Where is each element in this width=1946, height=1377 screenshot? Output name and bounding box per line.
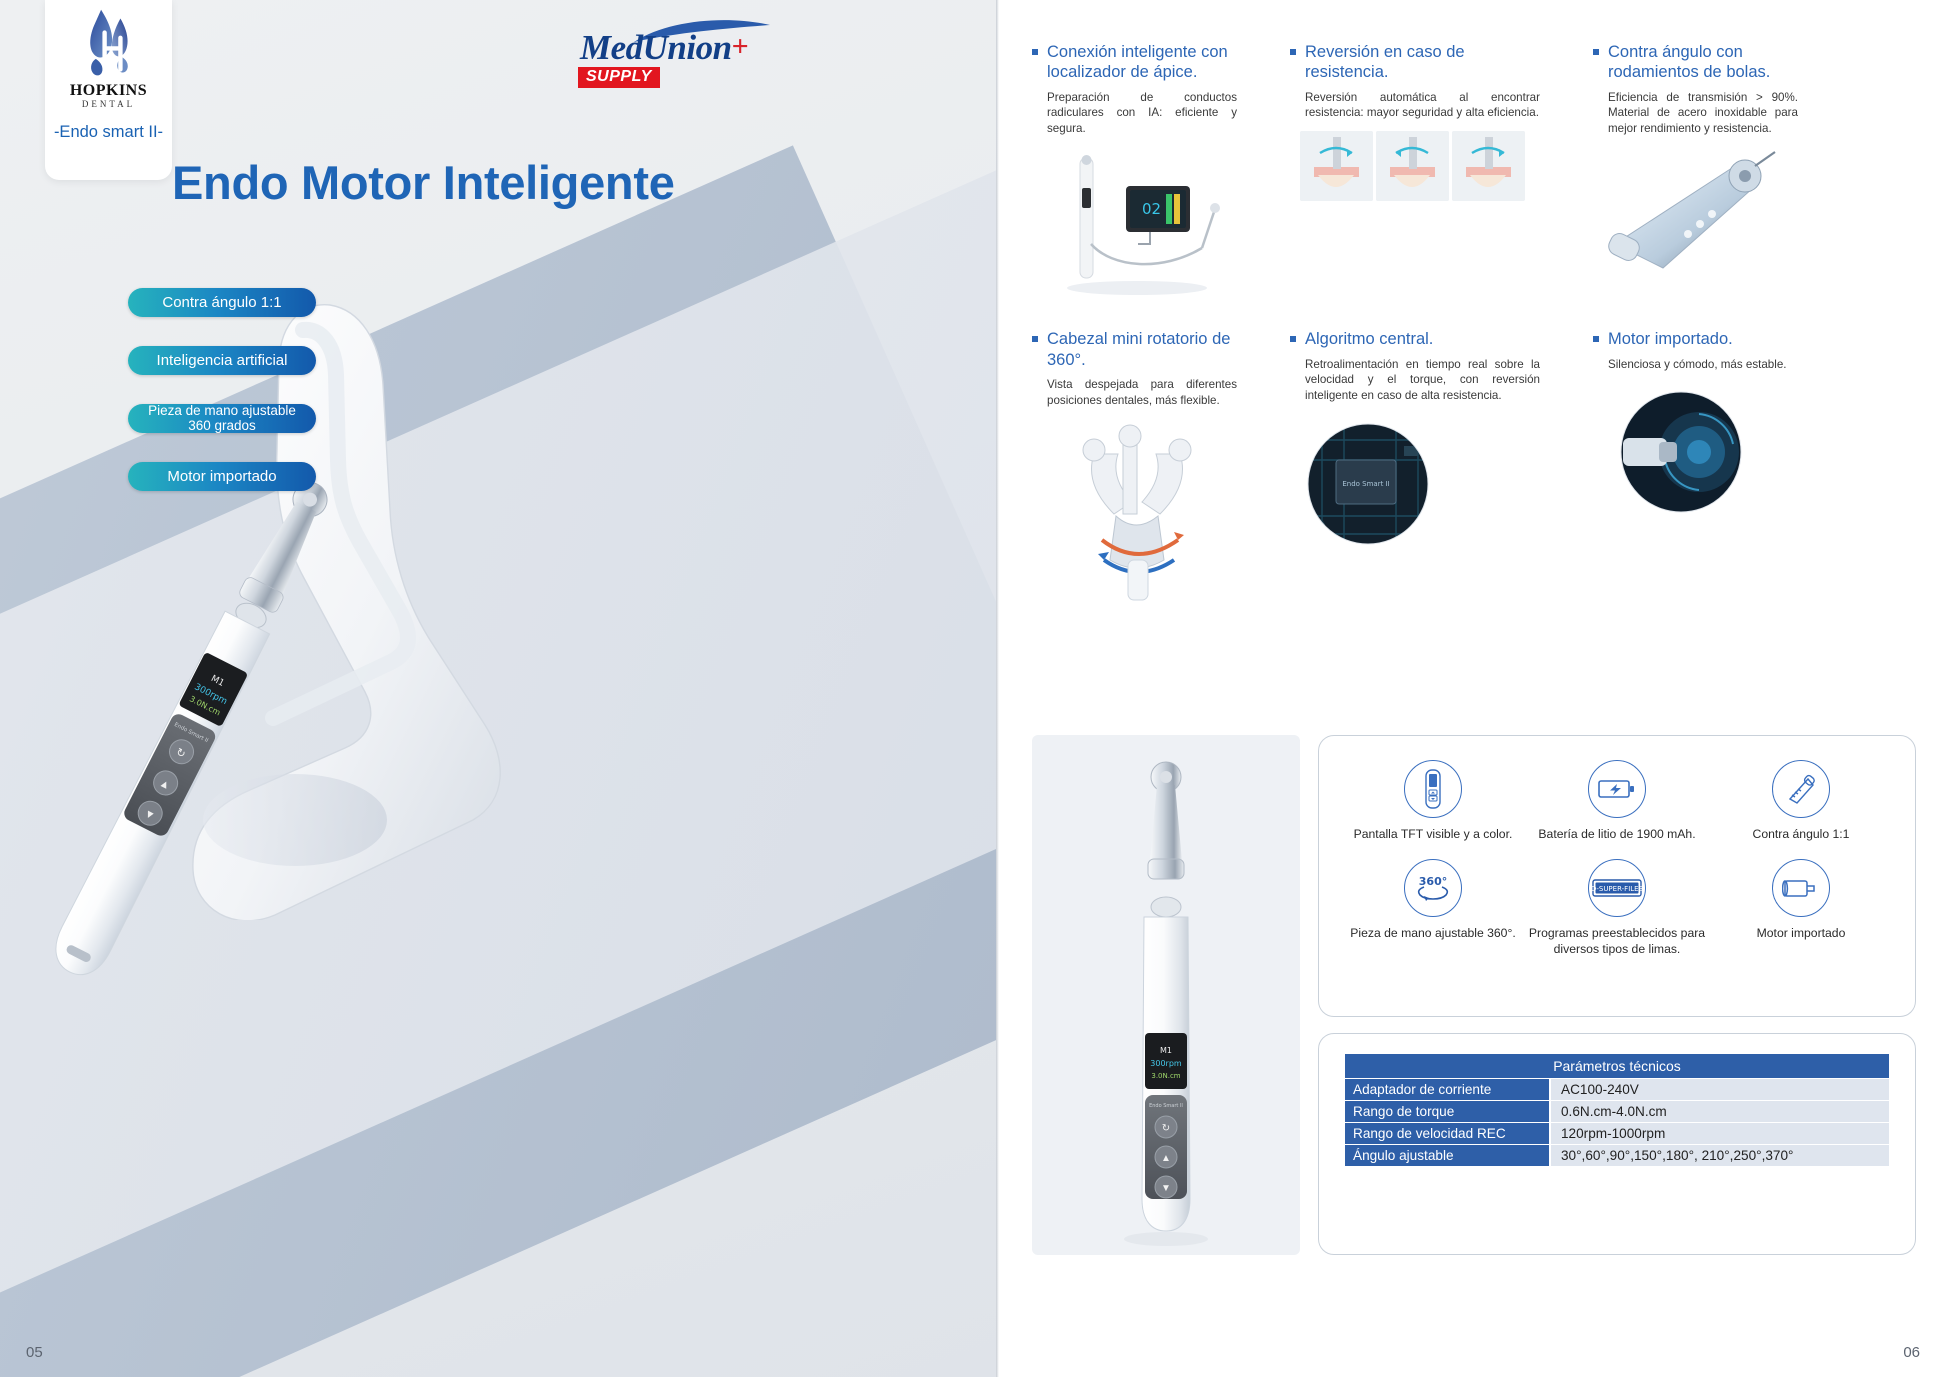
motor-icon [1772, 859, 1830, 917]
feature-block: Motor importado. Silenciosa y cómodo, má… [1593, 329, 1798, 610]
medunion-name: MedUnion [580, 28, 732, 67]
product-photo-card: M1 300rpm 3.0N.cm Endo Smart II ↻ ▲ ▼ [1032, 735, 1300, 1255]
tooth-frame [1300, 131, 1373, 201]
feature-block: Conexión inteligente con localizador de … [1032, 42, 1237, 303]
svg-text:02: 02 [1142, 200, 1161, 218]
svg-text:▼: ▼ [1161, 1183, 1171, 1194]
left-page: M1 300rpm 3.0N.cm Endo Smart II ↻ ▲ ▼ [0, 0, 996, 1377]
feature-badge: Contra ángulo 1:1 [128, 288, 316, 317]
svg-text:Endo Smart II: Endo Smart II [1342, 480, 1389, 488]
icon-feature-item: D-SUPER-FILES Programas preestablecidos … [1525, 859, 1709, 958]
table-row: Adaptador de corriente AC100-240V [1345, 1079, 1889, 1101]
spec-value: 30°,60°,90°,150°,180°, 210°,250°,370° [1550, 1145, 1889, 1167]
icon-feature-item: Batería de litio de 1900 mAh. [1525, 760, 1709, 843]
feature-heading: Reversión en caso de resistencia. [1290, 42, 1540, 83]
feature-block: Cabezal mini rotatorio de 360°. Vista de… [1032, 329, 1237, 610]
feature-heading: Cabezal mini rotatorio de 360°. [1032, 329, 1237, 370]
table-row: Ángulo ajustable 30°,60°,90°,150°,180°, … [1345, 1145, 1889, 1167]
spec-key: Adaptador de corriente [1345, 1079, 1550, 1101]
tooth-frame [1376, 131, 1449, 201]
hopkins-dental-logo-card: HOPKINS DENTAL -Endo smart II- [45, 0, 172, 180]
svg-text:Endo Smart II: Endo Smart II [1149, 1103, 1183, 1109]
endo-motor-product-photo: M1 300rpm 3.0N.cm Endo Smart II ↻ ▲ ▼ [1032, 735, 1300, 1255]
feature-image-reversal-sequence [1290, 131, 1540, 201]
svg-text:300rpm: 300rpm [1150, 1059, 1182, 1068]
icon-feature-grid: Pantalla TFT visible y a color. Baterí [1341, 760, 1893, 958]
icon-feature-item: Contra ángulo 1:1 [1709, 760, 1893, 843]
table-row: Rango de velocidad REC 120rpm-1000rpm [1345, 1123, 1889, 1145]
icon-feature-item: Motor importado [1709, 859, 1893, 958]
svg-text:3.0N.cm: 3.0N.cm [1151, 1072, 1180, 1080]
right-column: Pantalla TFT visible y a color. Baterí [1318, 735, 1916, 1255]
page-title: Endo Motor Inteligente [172, 155, 675, 210]
hopkins-logo-icon [78, 8, 140, 80]
icon-feature-label: Pantalla TFT visible y a color. [1341, 827, 1525, 843]
feature-block: Reversión en caso de resistencia. Revers… [1290, 42, 1540, 303]
feature-image-contra-angle [1593, 148, 1798, 293]
icon-feature-card: Pantalla TFT visible y a color. Baterí [1318, 735, 1916, 1017]
medunion-cross-icon: + [732, 30, 749, 63]
spec-key: Rango de velocidad REC [1345, 1123, 1550, 1145]
super-files-badge-text: D-SUPER-FILES [1592, 885, 1642, 893]
icon-feature-label: Contra ángulo 1:1 [1709, 827, 1893, 843]
feature-image-motor-turbine [1593, 384, 1798, 529]
super-files-icon: D-SUPER-FILES [1588, 859, 1646, 917]
product-model-label: -Endo smart II- [54, 123, 163, 142]
feature-body: Retroalimentación en tiempo real sobre l… [1290, 357, 1540, 404]
brochure-spread: M1 300rpm 3.0N.cm Endo Smart II ↻ ▲ ▼ [0, 0, 1946, 1377]
feature-heading: Motor importado. [1593, 329, 1798, 349]
feature-badge-line2: 360 grados [148, 419, 296, 433]
medunion-supply-logo: MedUnion+ SUPPLY [578, 30, 773, 88]
medunion-supply-tag: SUPPLY [578, 67, 660, 88]
feature-grid: Conexión inteligente con localizador de … [1032, 42, 1912, 610]
table-row: Rango de torque 0.6N.cm-4.0N.cm [1345, 1101, 1889, 1123]
spec-table-card: Parámetros técnicos Adaptador de corrien… [1318, 1033, 1916, 1255]
page-gutter [996, 0, 999, 1377]
table-header-row: Parámetros técnicos [1345, 1054, 1889, 1079]
logo-wordmark: HOPKINS [70, 82, 147, 100]
feature-block: Contra ángulo con rodamientos de bolas. … [1593, 42, 1798, 303]
feature-image-rotating-head [1032, 420, 1237, 610]
icon-feature-label: Programas preestablecidos para diversos … [1525, 926, 1709, 958]
feature-badge-list: Contra ángulo 1:1 Inteligencia artificia… [128, 288, 316, 520]
feature-badge: Motor importado [128, 462, 316, 491]
tooth-frame [1452, 131, 1525, 201]
logo-subtitle: DENTAL [82, 99, 135, 109]
medunion-wordmark: MedUnion+ [578, 30, 773, 65]
icon-feature-item: Pantalla TFT visible y a color. [1341, 760, 1525, 843]
right-page: Conexión inteligente con localizador de … [996, 0, 1946, 1377]
feature-badge-line1: Pieza de mano ajustable [148, 404, 296, 418]
rotation-360-text: 360° [1419, 875, 1447, 888]
icon-feature-label: Pieza de mano ajustable 360°. [1341, 926, 1525, 942]
page-number-left: 05 [26, 1344, 43, 1361]
feature-body: Eficiencia de transmisión > 90%. Materia… [1593, 90, 1798, 137]
spec-value: AC100-240V [1550, 1079, 1889, 1101]
spec-value: 0.6N.cm-4.0N.cm [1550, 1101, 1889, 1123]
contra-angle-icon [1772, 760, 1830, 818]
bottom-section: M1 300rpm 3.0N.cm Endo Smart II ↻ ▲ ▼ [1032, 735, 1916, 1255]
icon-feature-label: Batería de litio de 1900 mAh. [1525, 827, 1709, 843]
feature-heading: Contra ángulo con rodamientos de bolas. [1593, 42, 1798, 83]
feature-badge: Pieza de mano ajustable 360 grados [128, 404, 316, 433]
tft-display-icon [1404, 760, 1462, 818]
feature-block: Algoritmo central. Retroalimentación en … [1290, 329, 1540, 610]
icon-feature-item: 360° Pieza de mano ajustable 360°. [1341, 859, 1525, 958]
feature-body: Reversión automática al encontrar resist… [1290, 90, 1540, 121]
battery-icon [1588, 760, 1646, 818]
feature-body: Preparación de conductos radiculares con… [1032, 90, 1237, 137]
rotation-360-icon: 360° [1404, 859, 1462, 917]
feature-body: Vista despejada para diferentes posicion… [1032, 377, 1237, 408]
technical-parameters-table: Parámetros técnicos Adaptador de corrien… [1345, 1054, 1889, 1167]
spec-key: Ángulo ajustable [1345, 1145, 1550, 1167]
feature-image-circuit-chip: Endo Smart II [1290, 416, 1540, 561]
icon-feature-label: Motor importado [1709, 926, 1893, 942]
page-number-right: 06 [1903, 1344, 1920, 1361]
feature-image-apex-locator: 02 [1032, 148, 1237, 303]
spec-key: Rango de torque [1345, 1101, 1550, 1123]
spec-value: 120rpm-1000rpm [1550, 1123, 1889, 1145]
feature-heading: Algoritmo central. [1290, 329, 1540, 349]
table-title: Parámetros técnicos [1345, 1054, 1889, 1079]
feature-body: Silenciosa y cómodo, más estable. [1593, 357, 1798, 373]
feature-badge: Inteligencia artificial [128, 346, 316, 375]
feature-heading: Conexión inteligente con localizador de … [1032, 42, 1237, 83]
svg-text:M1: M1 [1160, 1046, 1172, 1055]
svg-text:▲: ▲ [1161, 1153, 1171, 1164]
svg-text:↻: ↻ [1162, 1123, 1170, 1134]
